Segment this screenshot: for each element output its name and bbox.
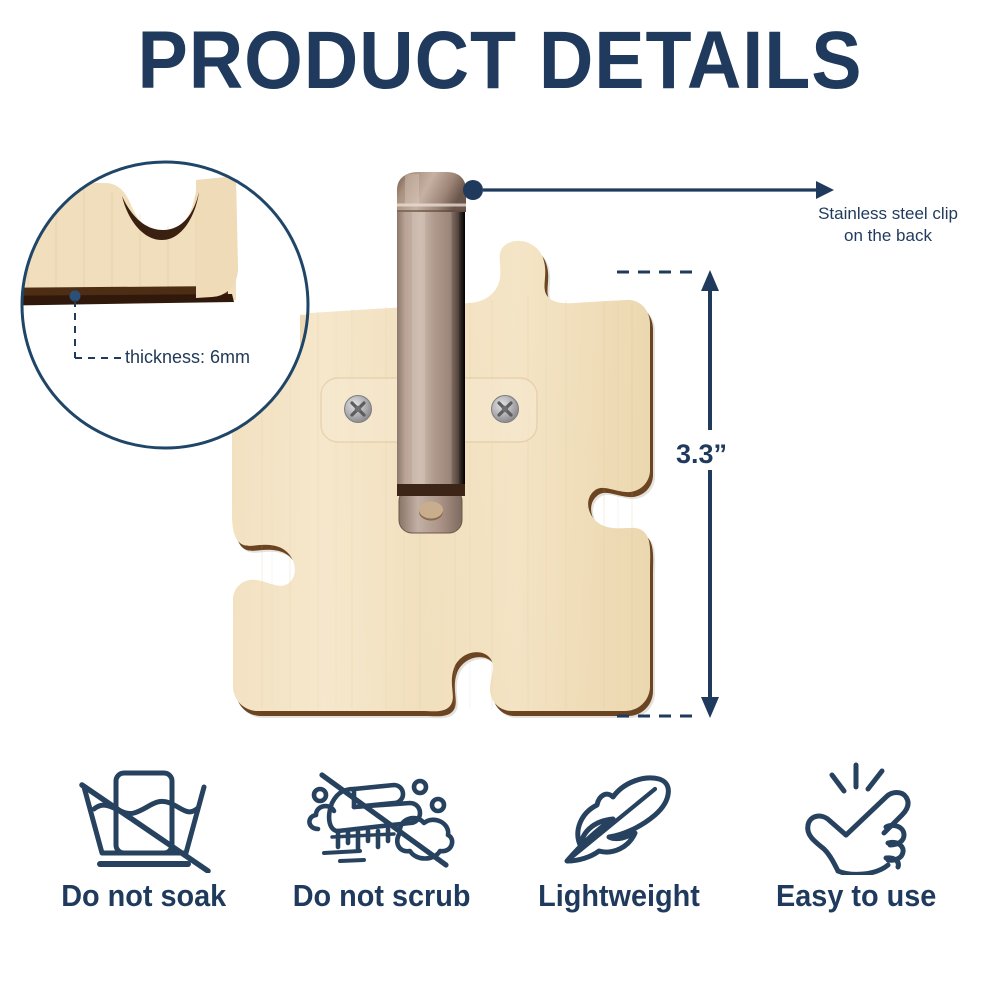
feature-lightweight: Lightweight <box>503 758 735 914</box>
thickness-label: thickness: 6mm <box>125 347 250 368</box>
no-soak-icon <box>68 758 220 876</box>
clip-callout-line2: on the back <box>768 225 1000 247</box>
clip-callout-label: Stainless steel clip on the back <box>768 203 1000 247</box>
screw-right <box>492 396 519 423</box>
no-scrub-icon <box>298 758 464 876</box>
product-details-page: PRODUCT DETAILS <box>0 0 1000 1000</box>
stainless-steel-clip <box>397 172 466 533</box>
feature-easy-to-use: Easy to use <box>740 758 972 914</box>
feature-label: Do not scrub <box>292 878 470 914</box>
tap-hand-icon <box>790 758 922 876</box>
product-illustration: Stainless steel clip on the back thickne… <box>0 0 1000 760</box>
feature-row: Do not soak <box>0 758 1000 958</box>
feature-label: Lightweight <box>538 878 700 914</box>
feature-label: Do not soak <box>62 878 227 914</box>
height-dimension-label: 3.3” <box>676 439 727 470</box>
screw-left <box>345 396 372 423</box>
feather-icon <box>551 758 687 876</box>
feature-do-not-soak: Do not soak <box>28 758 260 914</box>
clip-callout-line1: Stainless steel clip <box>768 203 1000 225</box>
feature-label: Easy to use <box>776 878 936 914</box>
clip-callout-arrow <box>463 180 834 200</box>
feature-do-not-scrub: Do not scrub <box>265 758 497 914</box>
